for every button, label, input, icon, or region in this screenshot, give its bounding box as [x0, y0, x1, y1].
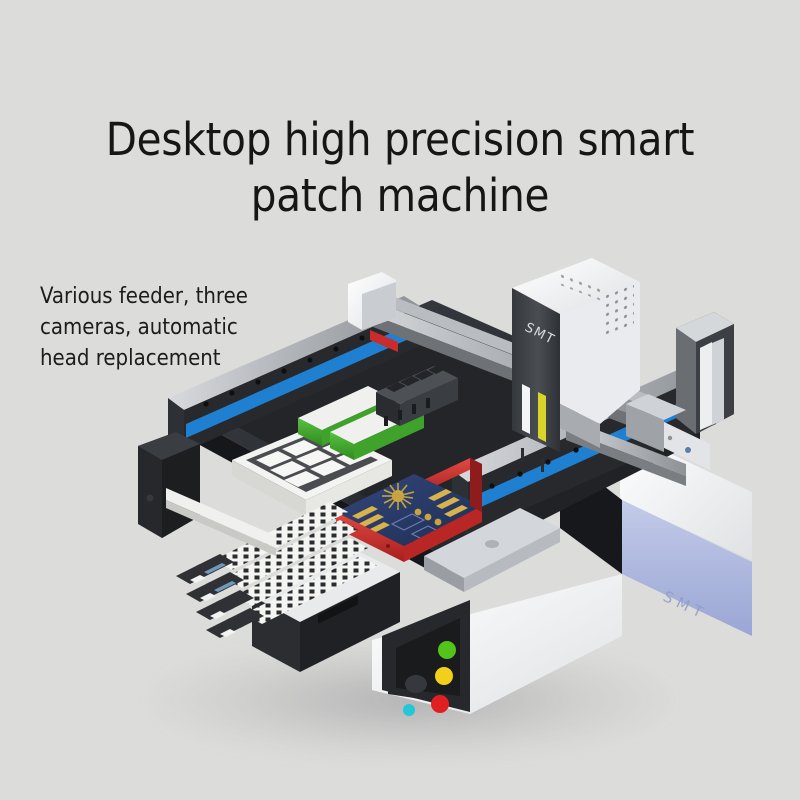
- start-button-green: [438, 641, 456, 659]
- product-marketing-banner: SMT: [0, 0, 800, 800]
- stop-button-red: [431, 695, 449, 713]
- page-subhead: Various feeder, three cameras, automatic…: [40, 281, 340, 374]
- power-button-cyan: [403, 704, 415, 716]
- pause-button-yellow: [435, 667, 453, 685]
- rear-upright-post: [700, 338, 724, 430]
- page-headline: Desktop high precision smart patch machi…: [0, 112, 800, 224]
